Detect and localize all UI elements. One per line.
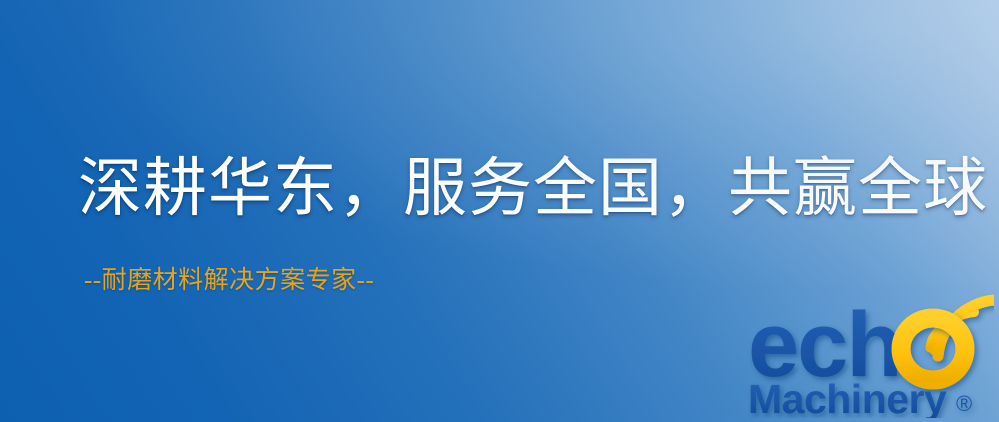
echo-machinery-logo: ech Machinery ®	[748, 292, 994, 418]
logo-tagline: Machinery ®	[748, 376, 972, 418]
banner-headline: 深耕华东，服务全国，共赢全球	[78, 152, 988, 226]
registered-trademark-icon: ®	[956, 391, 972, 416]
promo-banner: 深耕华东，服务全国，共赢全球 --耐磨材料解决方案专家--	[0, 0, 999, 422]
logo-tagline-text: Machinery	[748, 376, 947, 418]
logo-graphic: ech Machinery ®	[748, 292, 994, 418]
banner-subtitle: --耐磨材料解决方案专家--	[84, 266, 374, 296]
